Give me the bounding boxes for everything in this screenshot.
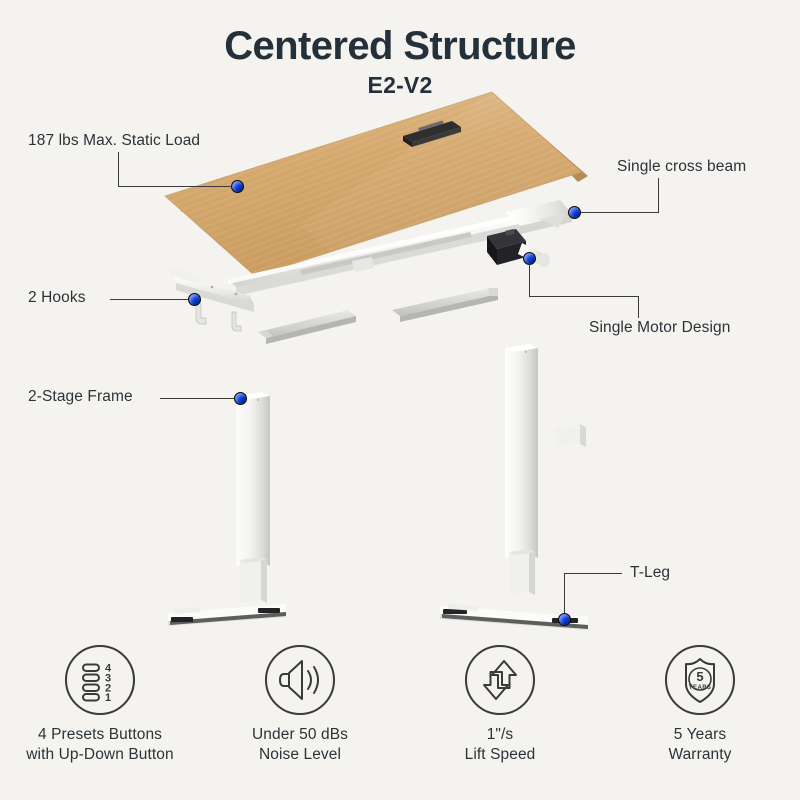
- leg-column-left: [236, 392, 270, 603]
- leader-line-single-motor-vertical-a: [529, 264, 530, 296]
- product-diagram-page: Centered Structure E2-V2: [0, 0, 800, 800]
- feature-lift-speed: 1"/s Lift Speed: [405, 644, 595, 765]
- keypad-presets-icon: 4 3 2 1: [64, 644, 136, 716]
- leader-line-two-hooks: [110, 299, 196, 300]
- callout-dot-single-cross-beam[interactable]: [568, 206, 581, 219]
- hardware-piece: [556, 424, 586, 448]
- keypad-number-1: 1: [105, 692, 111, 704]
- leader-line-two-stage-frame: [160, 398, 242, 399]
- callout-label-two-stage-frame: 2-Stage Frame: [28, 388, 133, 406]
- callout-label-single-cross-beam: Single cross beam: [617, 158, 746, 176]
- desktop-board: [165, 92, 588, 305]
- leader-line-single-cross-beam-horizontal: [580, 212, 659, 213]
- callout-dot-t-leg[interactable]: [558, 613, 571, 626]
- feature-caption-lift-speed: 1"/s Lift Speed: [465, 725, 536, 765]
- feature-presets-buttons: 4 3 2 1 4 Presets Buttons with Up-Down B…: [5, 644, 195, 765]
- callout-dot-max-static-load[interactable]: [231, 180, 244, 193]
- leader-line-single-motor-horizontal: [529, 296, 639, 297]
- feature-caption-line2: Warranty: [668, 745, 731, 765]
- feature-caption-line1: Under 50 dBs: [252, 725, 348, 745]
- leader-line-single-motor-vertical-b: [638, 296, 639, 318]
- leg-column-right: [505, 344, 538, 595]
- feature-caption-line1: 4 Presets Buttons: [26, 725, 174, 745]
- feature-caption-line1: 5 Years: [668, 725, 731, 745]
- shield-number: 5: [696, 669, 703, 684]
- callout-label-single-motor-design: Single Motor Design: [589, 319, 730, 337]
- up-down-arrows-icon: [464, 644, 536, 716]
- callout-dot-two-hooks[interactable]: [188, 293, 201, 306]
- feature-caption-line1: 1"/s: [465, 725, 536, 745]
- cover-plate-right: [392, 288, 498, 322]
- feature-caption-line2: with Up-Down Button: [26, 745, 174, 765]
- shield-unit: YEARS: [689, 685, 712, 691]
- callout-label-max-static-load: 187 lbs Max. Static Load: [28, 132, 200, 150]
- callout-dot-two-stage-frame[interactable]: [234, 392, 247, 405]
- feature-noise-level: Under 50 dBs Noise Level: [205, 644, 395, 765]
- feature-caption-warranty: 5 Years Warranty: [668, 725, 731, 765]
- shield-warranty-icon: 5 YEARS: [664, 644, 736, 716]
- leader-line-t-leg-horizontal: [564, 573, 622, 574]
- leader-line-max-static-load-vertical: [118, 152, 119, 186]
- feature-caption-noise-level: Under 50 dBs Noise Level: [252, 725, 348, 765]
- feature-caption-presets-buttons: 4 Presets Buttons with Up-Down Button: [26, 725, 174, 765]
- callout-label-t-leg: T-Leg: [630, 564, 670, 582]
- cover-plate-left: [258, 310, 356, 344]
- callout-label-two-hooks: 2 Hooks: [28, 289, 86, 307]
- feature-caption-line2: Lift Speed: [465, 745, 536, 765]
- speaker-volume-icon: [264, 644, 336, 716]
- feature-warranty: 5 YEARS 5 Years Warranty: [605, 644, 795, 765]
- leader-line-max-static-load-horizontal: [118, 186, 240, 187]
- feature-caption-line2: Noise Level: [252, 745, 348, 765]
- feature-highlights-row: 4 3 2 1 4 Presets Buttons with Up-Down B…: [0, 644, 800, 765]
- single-motor: [487, 229, 550, 267]
- leader-line-single-cross-beam-vertical: [658, 178, 659, 212]
- t-leg-foot-left: [168, 604, 286, 626]
